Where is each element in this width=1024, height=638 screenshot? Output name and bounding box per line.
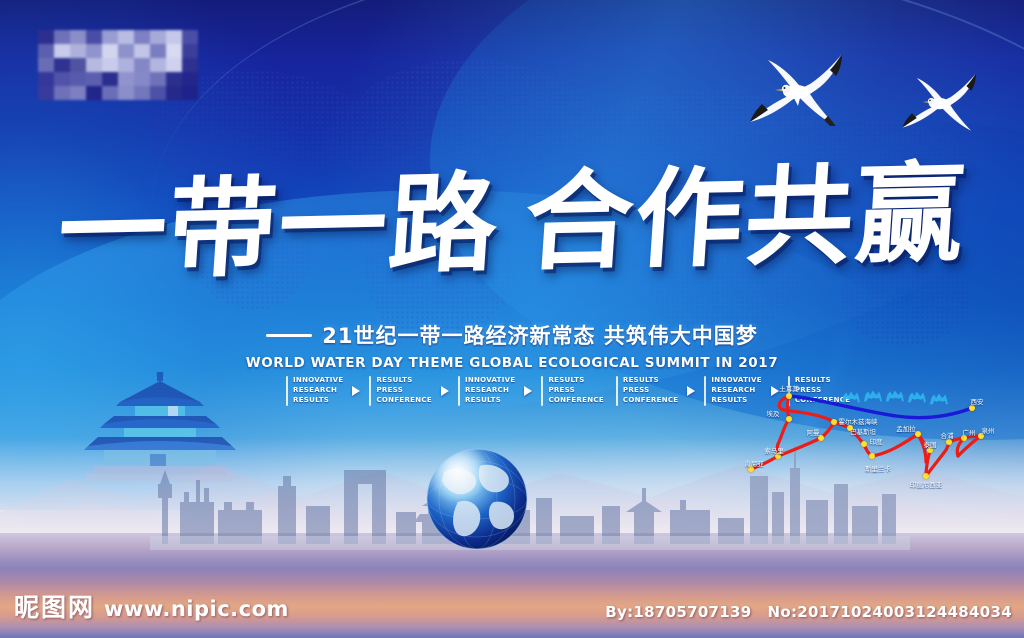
step-bar bbox=[458, 376, 460, 406]
poster-canvas: 一带一路合作共赢 21世纪一带一路经济新常态 共筑伟大中国梦 WORLD WAT… bbox=[0, 0, 1024, 638]
subtitle-block: 21世纪一带一路经济新常态 共筑伟大中国梦 WORLD WATER DAY TH… bbox=[0, 320, 1024, 371]
map-node-dot[interactable] bbox=[775, 453, 781, 459]
arrow-right-icon bbox=[524, 386, 532, 396]
step-bar bbox=[541, 376, 543, 406]
asset-number: No:20171024003124484034 bbox=[768, 603, 1013, 621]
silk-road-routes bbox=[736, 366, 1024, 488]
map-node-dot[interactable] bbox=[978, 433, 984, 439]
step-item: RESULTSPRESSCONFERENCE bbox=[541, 376, 603, 406]
step-bar bbox=[616, 376, 618, 406]
map-node-dot[interactable] bbox=[847, 425, 853, 431]
map-node-dot[interactable] bbox=[748, 466, 754, 472]
map-node-dot[interactable] bbox=[915, 431, 921, 437]
step-item: INNOVATIVERESEARCHRESULTS bbox=[458, 376, 515, 406]
map-node-dot[interactable] bbox=[831, 419, 837, 425]
step-bar bbox=[704, 376, 706, 406]
map-node-dot[interactable] bbox=[946, 439, 952, 445]
step-item: INNOVATIVERESEARCHRESULTS bbox=[286, 376, 343, 406]
map-node-dot[interactable] bbox=[786, 393, 792, 399]
seagull-icon-large bbox=[742, 48, 852, 132]
step-bar bbox=[369, 376, 371, 406]
map-node-dot[interactable] bbox=[869, 453, 875, 459]
step-label: INNOVATIVERESEARCHRESULTS bbox=[293, 376, 343, 406]
mosaic-censored-logo bbox=[38, 30, 198, 100]
step-item: RESULTSPRESSCONFERENCE bbox=[369, 376, 431, 406]
step-label: INNOVATIVERESEARCHRESULTS bbox=[465, 376, 515, 406]
step-label: RESULTSPRESSCONFERENCE bbox=[623, 376, 678, 406]
map-node-dot[interactable] bbox=[861, 441, 867, 447]
map-node-dot[interactable] bbox=[818, 435, 824, 441]
camel-caravan-icon bbox=[842, 391, 948, 405]
arrow-right-icon bbox=[687, 386, 695, 396]
subtitle-chinese-row: 21世纪一带一路经济新常态 共筑伟大中国梦 bbox=[266, 320, 758, 350]
step-item: RESULTSPRESSCONFERENCE bbox=[604, 376, 678, 406]
globe-graphic bbox=[424, 446, 530, 552]
step-bar bbox=[286, 376, 288, 406]
step-label: RESULTSPRESSCONFERENCE bbox=[548, 376, 603, 406]
subtitle-chinese: 21世纪一带一路经济新常态 共筑伟大中国梦 bbox=[322, 320, 758, 350]
site-watermark-url: www.nipic.com bbox=[104, 597, 289, 621]
map-node-dot[interactable] bbox=[927, 447, 933, 453]
silk-road-map: 土耳其 埃及 阿曼 索马里 肯尼亚 霍尔木兹海峡 巴基斯坦 印度 斯里兰卡 孟加… bbox=[736, 366, 1024, 488]
arrow-right-icon bbox=[352, 386, 360, 396]
subtitle-dash bbox=[266, 334, 312, 337]
step-label: RESULTSPRESSCONFERENCE bbox=[376, 376, 431, 406]
map-node-dot[interactable] bbox=[969, 405, 975, 411]
site-watermark-cn: 昵图网 bbox=[14, 588, 95, 624]
arrow-right-icon bbox=[441, 386, 449, 396]
map-node-dot[interactable] bbox=[786, 416, 792, 422]
uploader-id: By:18705707139 bbox=[605, 603, 751, 621]
asset-credit: By:18705707139 No:20171024003124484034 bbox=[605, 603, 1012, 621]
map-node-dot[interactable] bbox=[923, 473, 929, 479]
map-node-dot[interactable] bbox=[961, 435, 967, 441]
seagull-icon-small bbox=[896, 68, 984, 136]
site-watermark: 昵图网 www.nipic.com bbox=[14, 588, 289, 624]
